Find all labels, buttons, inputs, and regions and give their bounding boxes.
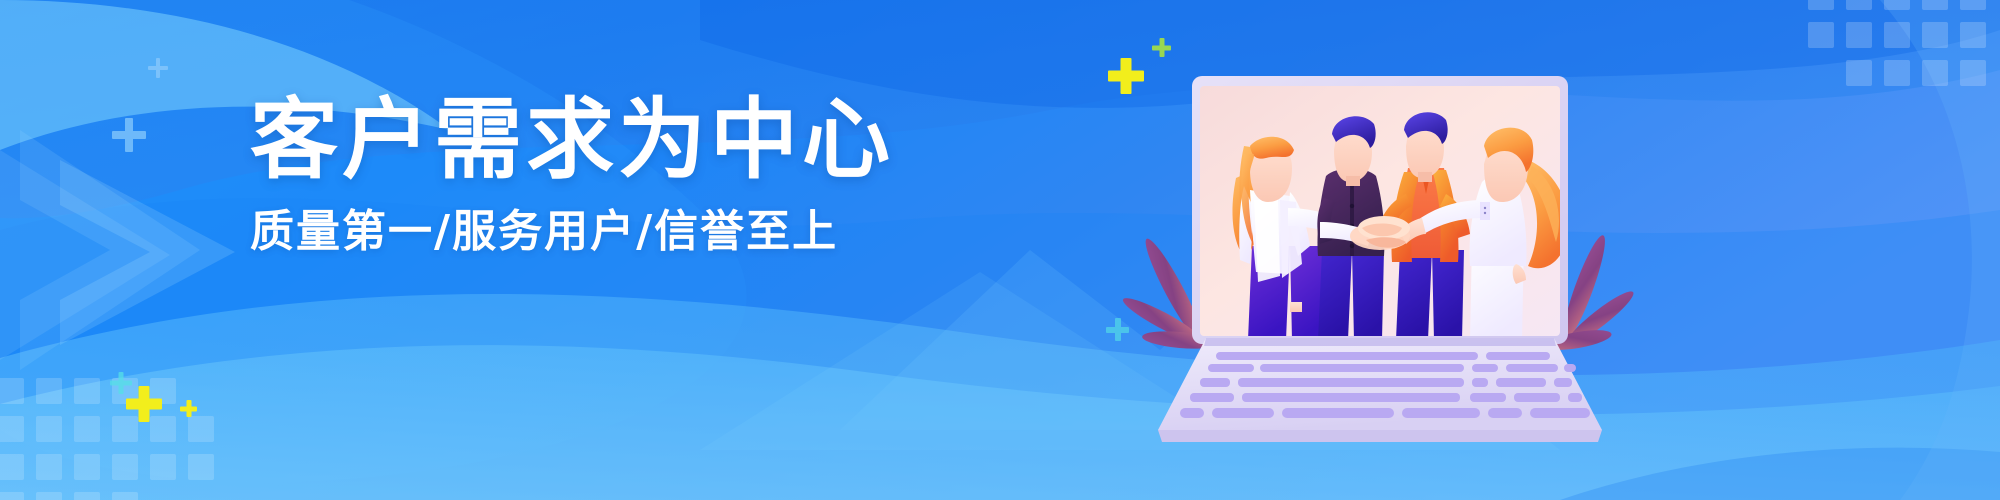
plus-green-small-laptop xyxy=(1152,38,1171,57)
banner-text-block: 客户需求为中心 质量第一/服务用户/信誉至上 xyxy=(250,96,810,254)
chevron-left-soft xyxy=(0,150,170,360)
plus-cyan-mid xyxy=(1106,318,1129,341)
grid-top-right xyxy=(1808,0,1986,86)
banner-headline: 客户需求为中心 xyxy=(250,96,810,184)
plus-yellow-large-bottom xyxy=(126,386,162,422)
plus-white-large-left xyxy=(112,118,146,152)
plus-yellow-large-laptop xyxy=(1108,58,1144,94)
chevron-left-outer xyxy=(20,130,200,370)
promo-banner: 客户需求为中心 质量第一/服务用户/信誉至上 xyxy=(0,0,2000,500)
grid-bottom-left xyxy=(0,378,214,500)
banner-subheadline: 质量第一/服务用户/信誉至上 xyxy=(250,210,810,254)
chevron-left-inner xyxy=(60,160,235,345)
laptop-illustration xyxy=(1140,50,1620,450)
plus-yellow-small-bottom xyxy=(180,400,197,417)
laptop-base xyxy=(1158,338,1602,442)
plus-white-small-top-left xyxy=(148,58,168,78)
